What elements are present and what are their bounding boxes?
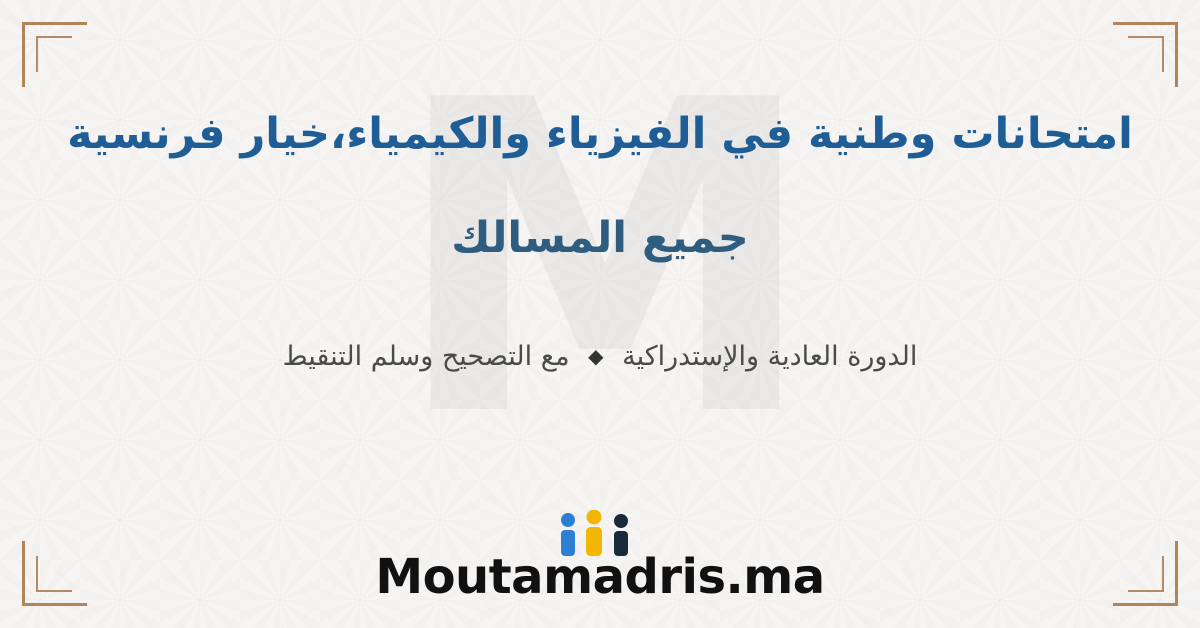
poster-content: امتحانات وطنية في الفيزياء والكيمياء،خيا… xyxy=(0,0,1200,628)
diamond-icon: ◆ xyxy=(578,344,613,368)
poster: M امتحانات وطنية في الفيزياء والكيمياء،خ… xyxy=(0,0,1200,628)
logo-icon xyxy=(554,510,646,556)
brand-name: Moutamadris.ma xyxy=(375,552,824,602)
page-subtitle: الدورة العادية والإستدراكية ◆ مع التصحيح… xyxy=(50,338,1150,376)
subtitle-correction-text: مع التصحيح وسلم التنقيط xyxy=(283,341,570,372)
subtitle-session-text: الدورة العادية والإستدراكية xyxy=(622,341,917,372)
page-title-secondary: جميع المسالك xyxy=(20,212,1180,266)
page-title-primary: امتحانات وطنية في الفيزياء والكيمياء،خيا… xyxy=(20,108,1180,162)
brand-block: Moutamadris.ma xyxy=(0,510,1200,602)
